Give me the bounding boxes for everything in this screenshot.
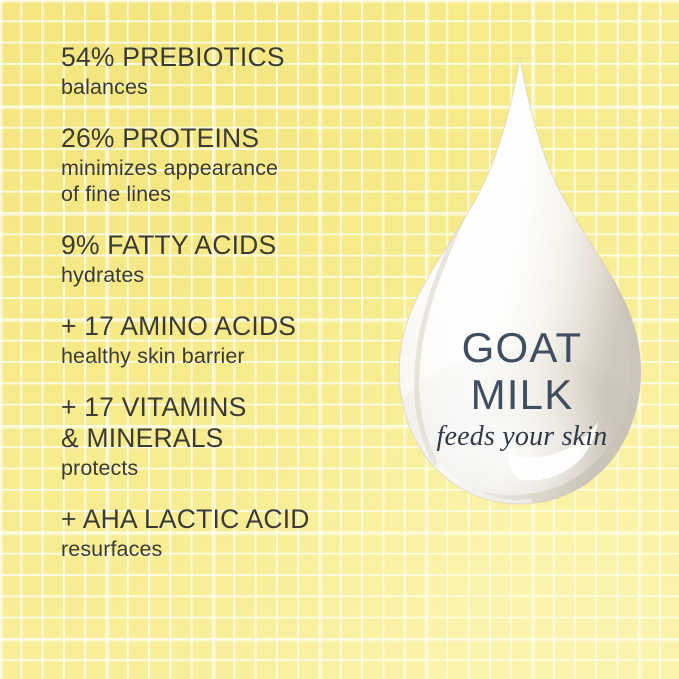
ingredient-list: 54% PREBIOTICS balances 26% PROTEINS min… [61, 42, 391, 562]
ingredient-heading: + 17 AMINO ACIDS [61, 311, 391, 342]
list-item: + 17 AMINO ACIDS healthy skin barrier [61, 311, 391, 369]
ingredient-heading: + AHA LACTIC ACID [61, 504, 391, 535]
ingredient-benefit: healthy skin barrier [61, 343, 391, 369]
ingredient-heading: 9% FATTY ACIDS [61, 230, 391, 261]
list-item: 9% FATTY ACIDS hydrates [61, 230, 391, 288]
list-item: 26% PROTEINS minimizes appearance of fin… [61, 123, 391, 207]
ingredient-benefit: hydrates [61, 262, 391, 288]
droplet-title: GOAT MILK [392, 324, 652, 418]
droplet-tagline: feeds your skin [392, 421, 652, 453]
ingredient-benefit: balances [61, 74, 391, 100]
ingredient-benefit: minimizes appearance of fine lines [61, 155, 391, 207]
list-item: + AHA LACTIC ACID resurfaces [61, 504, 391, 562]
ingredient-heading: + 17 VITAMINS & MINERALS [61, 392, 391, 454]
goat-milk-ingredient-poster: 54% PREBIOTICS balances 26% PROTEINS min… [0, 0, 679, 679]
list-item: 54% PREBIOTICS balances [61, 42, 391, 100]
ingredient-heading: 54% PREBIOTICS [61, 42, 391, 73]
milk-droplet-illustration: GOAT MILK feeds your skin [392, 50, 652, 550]
list-item: + 17 VITAMINS & MINERALS protects [61, 392, 391, 481]
ingredient-benefit: resurfaces [61, 536, 391, 562]
ingredient-benefit: protects [61, 455, 391, 481]
milk-droplet-icon [392, 50, 652, 550]
ingredient-heading: 26% PROTEINS [61, 123, 391, 154]
